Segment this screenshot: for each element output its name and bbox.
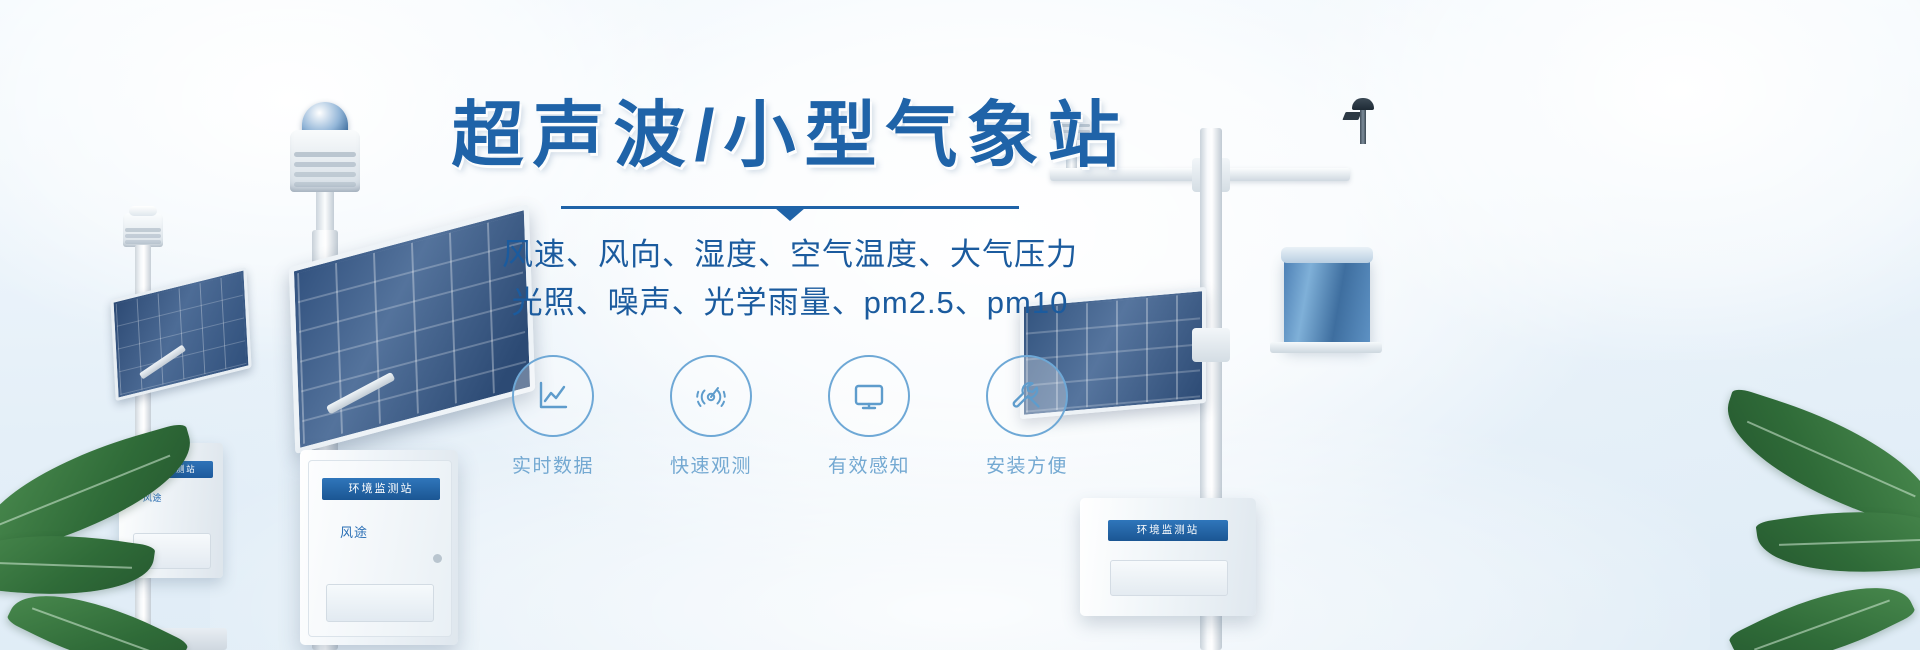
vane-rod: [1360, 110, 1366, 144]
title-divider: [561, 203, 1019, 217]
feature-label: 实时数据: [499, 451, 607, 478]
decorative-leaf: [1728, 558, 1917, 650]
subtitle-line-2: 光照、噪声、光学雨量、pm2.5、pm10: [440, 279, 1140, 327]
product-banner: 环境监测站 风途 环境监测站 风途: [0, 0, 1920, 650]
vane-cup: [1352, 98, 1374, 110]
sensor-head-icon: [123, 213, 163, 247]
feature-item-effective-sensing[interactable]: 有效感知: [815, 355, 923, 478]
feature-label: 有效感知: [815, 451, 923, 478]
cabinet-vent: [326, 584, 434, 622]
sensor-head-icon: [290, 130, 360, 192]
mast-collar-lower: [1192, 328, 1230, 362]
sensor-neck: [316, 192, 334, 234]
monitor-display-icon: [828, 355, 910, 437]
solar-panel: [110, 267, 251, 401]
cabinet-badge-label: 环境监测站: [322, 478, 440, 500]
feature-item-easy-installation[interactable]: 安装方便: [973, 355, 1081, 478]
leaf-vein: [1779, 538, 1920, 545]
cabinet-lock-icon: [433, 554, 442, 563]
wrench-tool-icon: [986, 355, 1068, 437]
feature-label: 快速观测: [657, 451, 765, 478]
subtitle-line-1: 风速、风向、湿度、空气温度、大气压力: [440, 231, 1140, 279]
cabinet-badge-label: 环境监测站: [1108, 520, 1228, 541]
decorative-leaf: [1709, 386, 1920, 533]
brand-logo-label: 风途: [340, 522, 368, 541]
equipment-cabinet: 环境监测站: [1080, 498, 1256, 616]
instrument-shelf: [1270, 342, 1382, 353]
vane-tail: [1342, 112, 1361, 120]
leaf-vein: [1747, 421, 1916, 497]
banner-text-block: 超声波/小型气象站 风速、风向、湿度、空气温度、大气压力 光照、噪声、光学雨量、…: [440, 96, 1140, 478]
radar-signal-icon: [670, 355, 752, 437]
rain-gauge-icon: [1284, 255, 1370, 347]
feature-item-fast-observation[interactable]: 快速观测: [657, 355, 765, 478]
leaf-vein: [1754, 599, 1890, 650]
feature-list: 实时数据 快速观测: [440, 355, 1140, 478]
line-chart-icon: [512, 355, 594, 437]
cabinet-vent: [1110, 560, 1228, 596]
equipment-cabinet: 环境监测站 风途: [300, 450, 458, 645]
wind-vane-icon: [1348, 98, 1378, 144]
feature-label: 安装方便: [973, 451, 1081, 478]
caret-down-icon: [775, 208, 805, 221]
feature-item-realtime-data[interactable]: 实时数据: [499, 355, 607, 478]
leaf-vein: [0, 561, 132, 568]
page-title: 超声波/小型气象站: [440, 96, 1140, 177]
